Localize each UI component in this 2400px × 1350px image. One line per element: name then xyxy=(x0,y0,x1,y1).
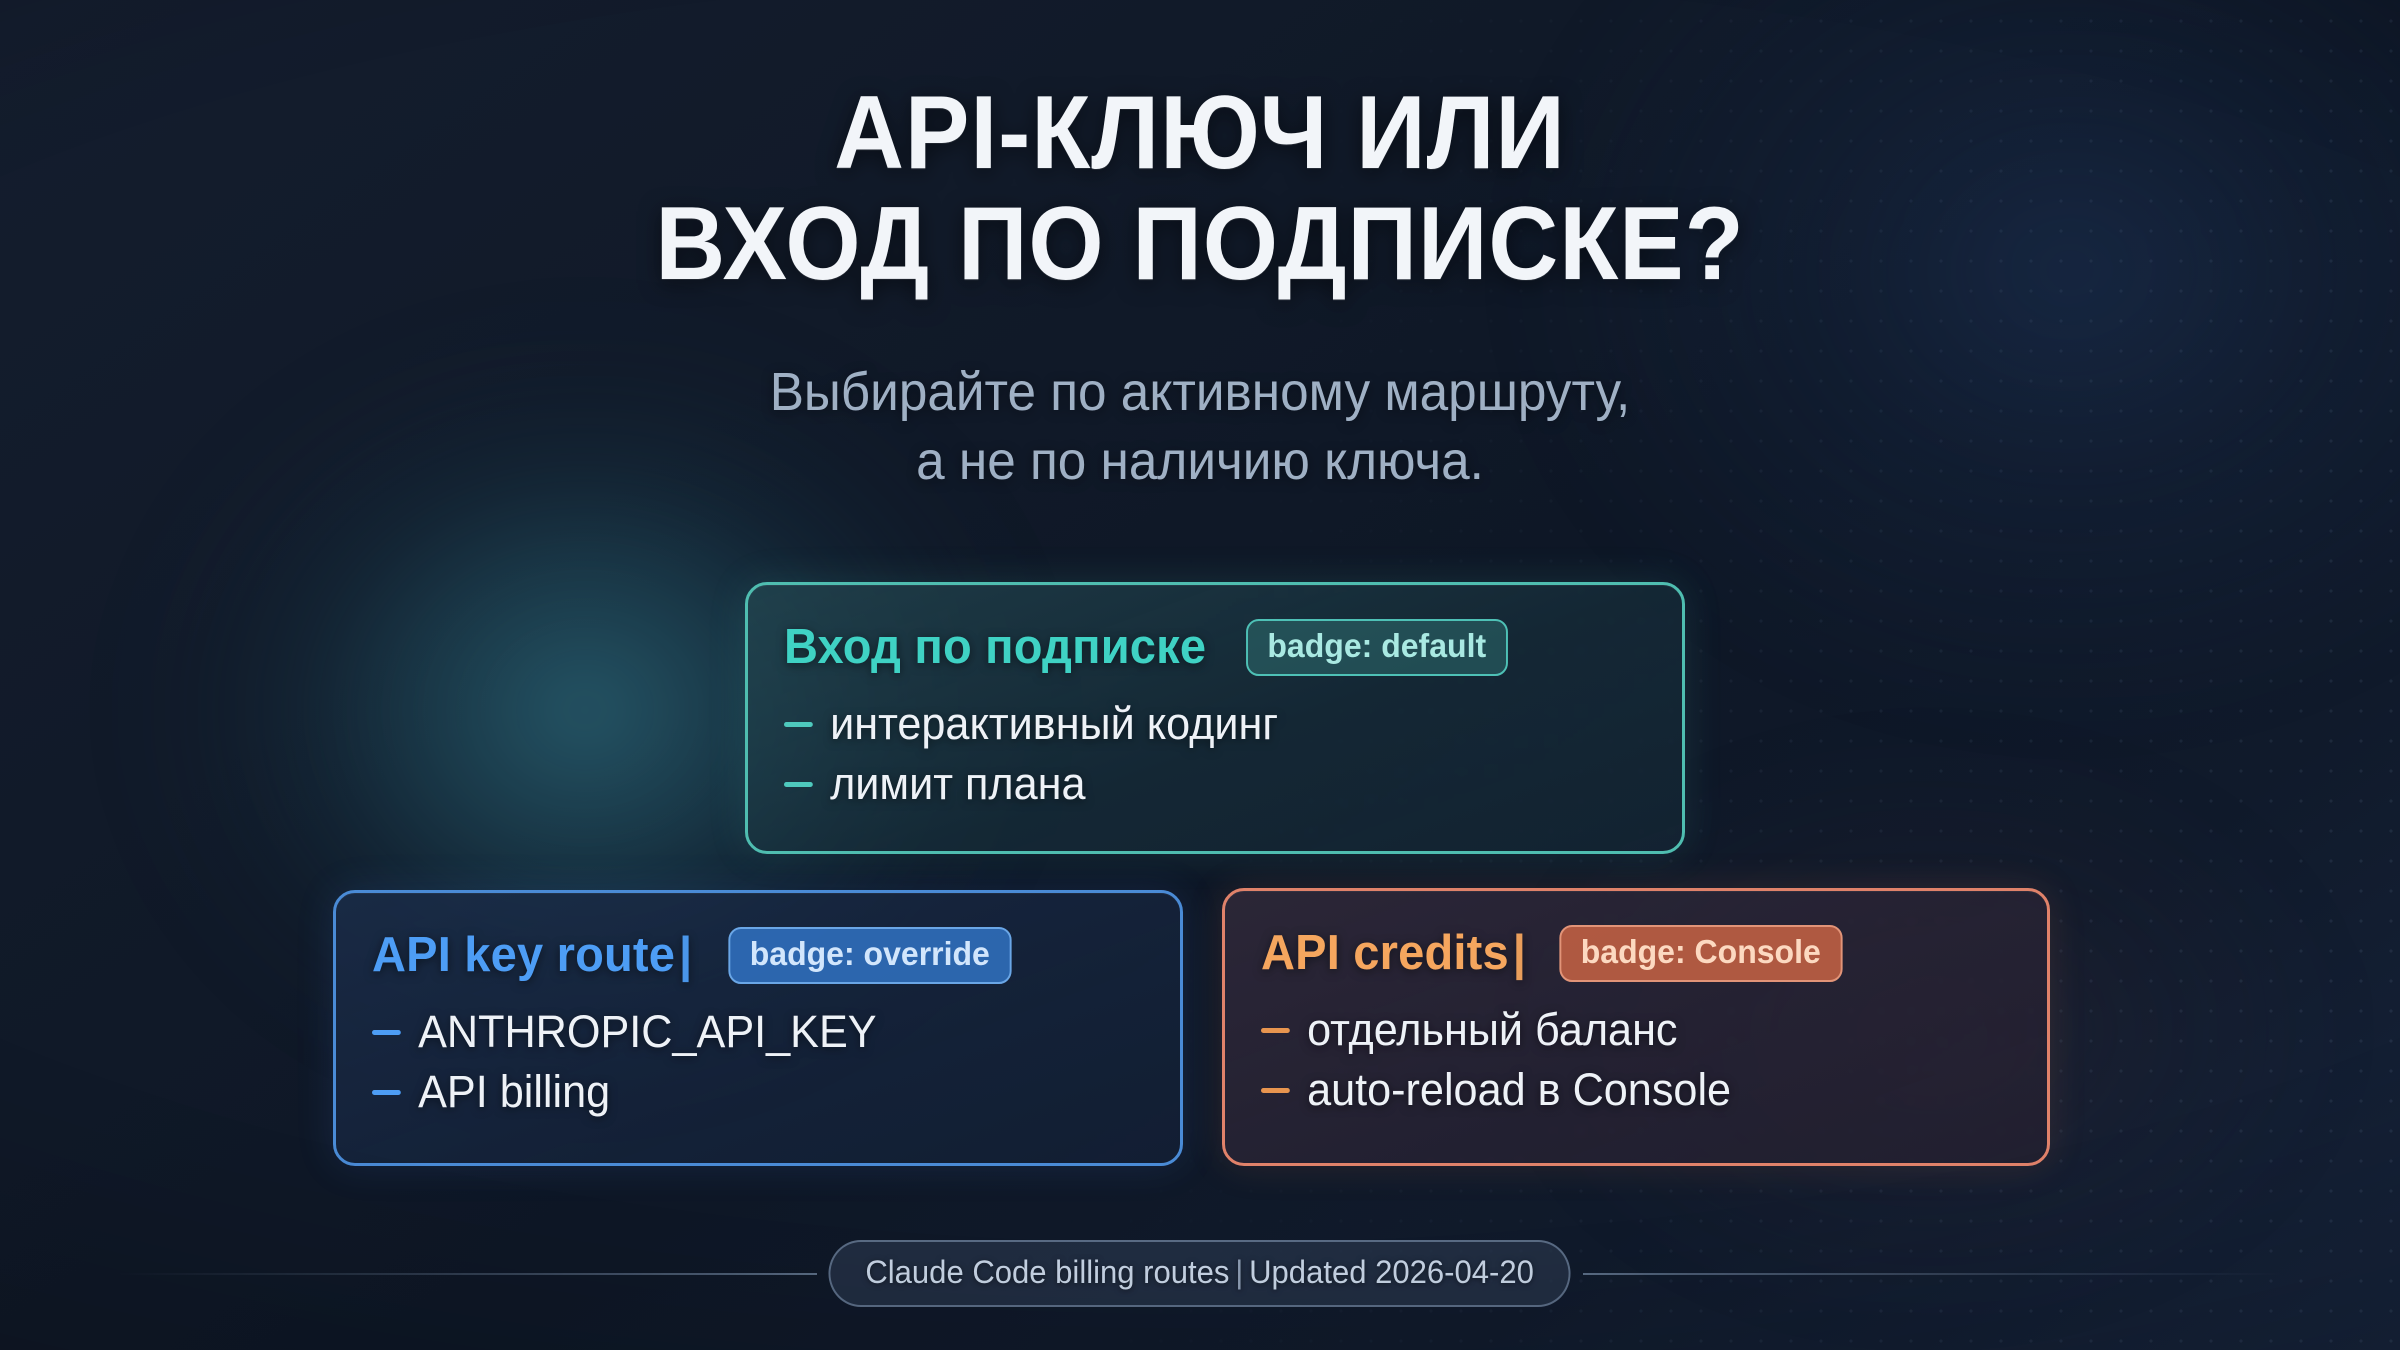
footer-pill: Claude Code billing routes|Updated 2026-… xyxy=(829,1240,1571,1307)
card-header: Вход по подписке badge: default xyxy=(784,619,1642,676)
card-api-key-route[interactable]: API key route| badge: override ANTHROPIC… xyxy=(333,890,1183,1166)
list-item-label: отдельный баланс xyxy=(1307,1000,1677,1060)
dash-bullet-icon xyxy=(784,782,813,787)
footer-rule-left xyxy=(117,1273,817,1275)
card-header: API credits| badge: Console xyxy=(1261,925,2007,982)
list-item-label: интерактивный кодинг xyxy=(830,694,1278,754)
slide-canvas: API-КЛЮЧ ИЛИ ВХОД ПО ПОДПИСКЕ? Выбирайте… xyxy=(0,0,2400,1350)
dash-bullet-icon xyxy=(1261,1028,1290,1033)
card-title: API key route| xyxy=(372,927,692,983)
page-title: API-КЛЮЧ ИЛИ ВХОД ПО ПОДПИСКЕ? xyxy=(84,78,2316,301)
list-item: ANTHROPIC_API_KEY xyxy=(372,1002,1109,1062)
list-item-label: auto-reload в Console xyxy=(1307,1060,1731,1120)
status-badge: badge: default xyxy=(1246,619,1507,676)
card-bullet-list: ANTHROPIC_API_KEY API billing xyxy=(372,1002,1140,1123)
dash-bullet-icon xyxy=(372,1030,401,1035)
footer-updated: Updated 2026-04-20 xyxy=(1250,1254,1535,1290)
list-item: отдельный баланс xyxy=(1261,1000,1977,1060)
card-title: Вход по подписке xyxy=(784,619,1206,675)
dash-bullet-icon xyxy=(1261,1088,1290,1093)
list-item-label: лимит плана xyxy=(830,754,1085,814)
card-api-credits[interactable]: API credits| badge: Console отдельный ба… xyxy=(1222,888,2050,1166)
list-item: лимит плана xyxy=(784,754,1608,814)
list-item-label: API billing xyxy=(418,1062,610,1122)
slide-content: API-КЛЮЧ ИЛИ ВХОД ПО ПОДПИСКЕ? Выбирайте… xyxy=(0,0,2400,1350)
card-bullet-list: отдельный баланс auto-reload в Console xyxy=(1261,1000,2007,1121)
footer-rule-right xyxy=(1583,1273,2283,1275)
footer-separator: | xyxy=(1236,1254,1244,1290)
card-title-text: API credits xyxy=(1261,926,1509,980)
status-badge: badge: override xyxy=(728,927,1011,984)
card-title-separator: | xyxy=(679,928,692,982)
card-subscription[interactable]: Вход по подписке badge: default интеракт… xyxy=(745,582,1685,854)
status-badge: badge: Console xyxy=(1559,925,1842,982)
list-item: auto-reload в Console xyxy=(1261,1060,1977,1120)
dash-bullet-icon xyxy=(372,1090,401,1095)
list-item-label: ANTHROPIC_API_KEY xyxy=(418,1002,877,1062)
card-title-text: API key route xyxy=(372,928,675,982)
footer-label: Claude Code billing routes xyxy=(866,1254,1230,1290)
card-title: API credits| xyxy=(1261,925,1526,981)
card-header: API key route| badge: override xyxy=(372,927,1140,984)
list-item: API billing xyxy=(372,1062,1109,1122)
card-title-separator: | xyxy=(1513,926,1526,980)
card-bullet-list: интерактивный кодинг лимит плана xyxy=(784,694,1642,815)
footer: Claude Code billing routes|Updated 2026-… xyxy=(0,1240,2400,1307)
page-subtitle: Выбирайте по активному маршруту, а не по… xyxy=(60,358,2340,495)
dash-bullet-icon xyxy=(784,722,813,727)
list-item: интерактивный кодинг xyxy=(784,694,1608,754)
